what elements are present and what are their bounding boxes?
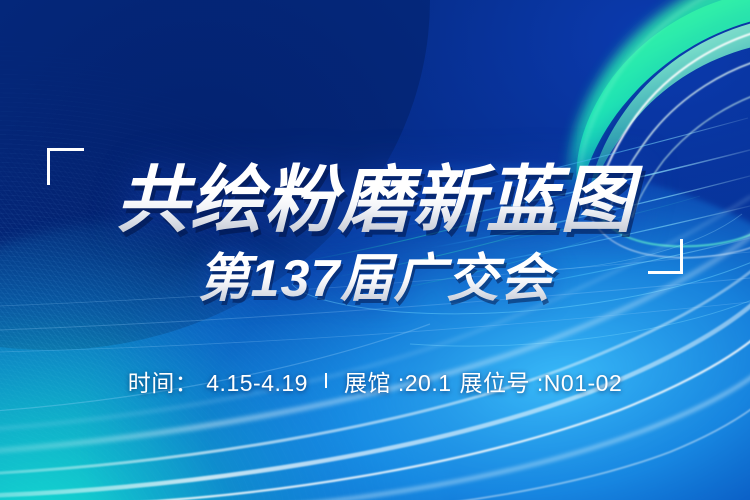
exhibition-banner: 共绘粉磨新蓝图 第137届广交会 时间：4.15-4.19展馆 :20.1展位号… (0, 0, 750, 500)
page-subtitle: 第137届广交会 (0, 248, 750, 310)
hall-value: 20.1 (405, 367, 452, 399)
event-info-line: 时间：4.15-4.19展馆 :20.1展位号 :N01-02 (0, 365, 750, 399)
time-label: 时间： (128, 367, 199, 399)
page-title: 共绘粉磨新蓝图 (0, 158, 750, 244)
booth-value: N01-02 (544, 367, 622, 399)
booth-label: 展位号 : (460, 367, 544, 399)
info-separator-icon (325, 373, 327, 388)
time-value: 4.15-4.19 (206, 367, 308, 399)
hall-label: 展馆 : (344, 367, 405, 399)
